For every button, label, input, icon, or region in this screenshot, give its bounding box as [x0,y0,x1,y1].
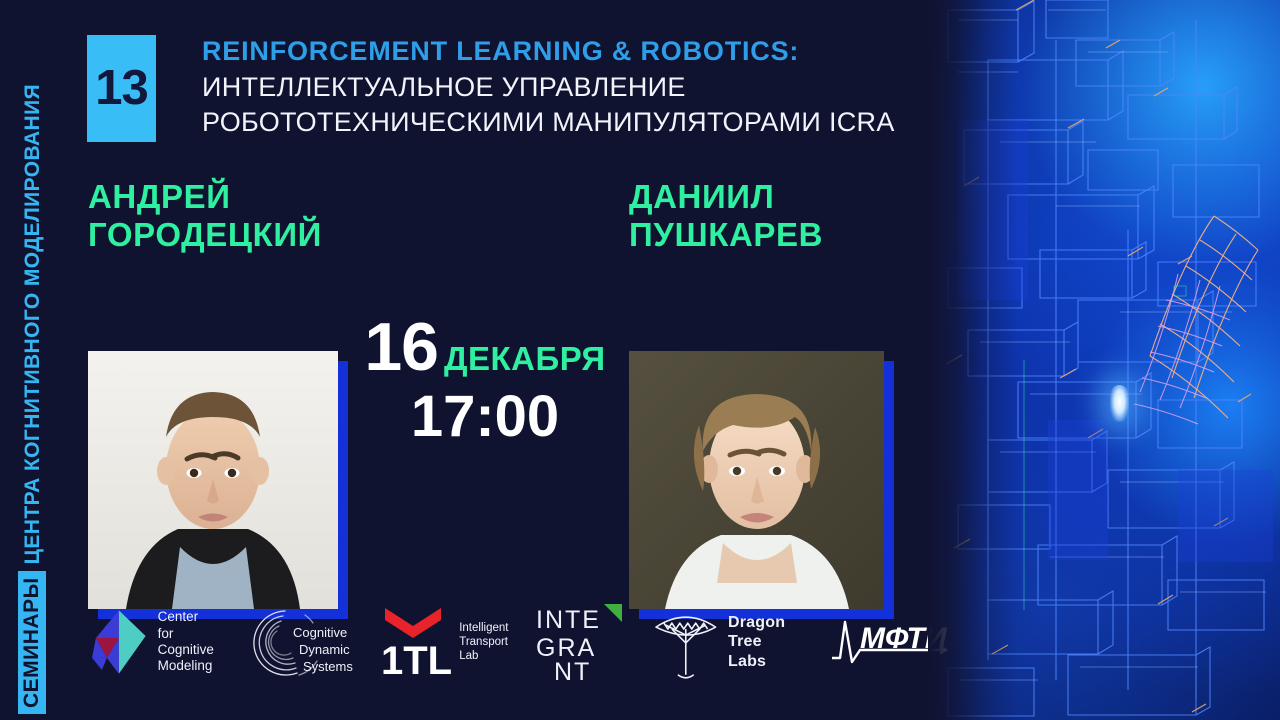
title-english: REINFORCEMENT LEARNING & ROBOTICS: [202,36,992,66]
speaker-photo-frame-1 [629,351,884,609]
event-time: 17:00 [360,388,610,446]
svg-text:МФТИ: МФТИ [860,622,948,655]
speaker-name-0: АНДРЕЙ ГОРОДЕЦКИЙ [88,178,338,253]
seminar-number-badge: 13 [87,35,156,142]
logo-dragon-tree-labs: Dragon Tree Labs [652,605,804,679]
svg-text:Systems: Systems [303,659,353,674]
speaker-card-1: ДАНИИЛ ПУШКАРЕВ [629,178,884,609]
cds-mark-icon: Cognitive Dynamic Systems [243,603,353,681]
svg-text:Cognitive: Cognitive [293,625,347,640]
event-day: 16 [364,315,438,380]
svg-text:Dynamic: Dynamic [299,642,350,657]
portrait-illustration-1 [629,351,884,609]
glow-highlight [1110,385,1129,422]
svg-text:INTE: INTE [536,606,601,634]
speaker-card-0: АНДРЕЙ ГОРОДЕЦКИЙ [88,178,338,609]
ccm-mark-icon [88,606,150,678]
seminar-poster: СЕМИНАРЫ ЦЕНТРА КОГНИТИВНОГО МОДЕЛИРОВАН… [0,0,1280,720]
integrant-mark-icon: INTE GRA NT [534,602,626,682]
seminar-number: 13 [95,64,148,113]
mfti-mark-icon: МФТИ [830,612,948,672]
logo-mfti: МФТИ [830,612,948,672]
event-month: ДЕКАБРЯ [444,340,606,378]
event-datetime: 16 ДЕКАБРЯ 17:00 [360,315,610,446]
logo-cognitive-dynamic-systems: Cognitive Dynamic Systems [243,603,353,681]
logo-itl-intelligent-transport-lab: 1TL Intelligent Transport Lab [379,604,508,680]
itl-mark-icon: 1TL [379,604,451,680]
logo-center-for-cognitive-modeling: Center for Cognitive Modeling [88,606,217,678]
logo-center-for-cognitive-modeling-text: Center for Cognitive Modeling [158,609,218,675]
partner-logo-row: Center for Cognitive Modeling Cognitive … [88,592,948,692]
title-block: REINFORCEMENT LEARNING & ROBOTICS: ИНТЕЛ… [202,36,992,140]
svg-text:1TL: 1TL [381,639,451,680]
logo-itl-text: Intelligent Transport Lab [459,621,508,663]
speaker-photo-frame-0 [88,351,338,609]
speaker-photo-1 [629,351,884,609]
logo-integrant: INTE GRA NT [534,602,626,682]
logo-dragon-tree-labs-text: Dragon Tree Labs [728,613,804,672]
title-russian-line2: РОБОТОТЕХНИЧЕСКИМИ МАНИПУЛЯТОРАМИ ICRA [202,105,992,140]
vertical-side-strip: СЕМИНАРЫ ЦЕНТРА КОГНИТИВНОГО МОДЕЛИРОВАН… [0,0,64,720]
speaker-name-1: ДАНИИЛ ПУШКАРЕВ [629,178,884,253]
speaker-photo-0 [88,351,338,609]
title-russian-line1: ИНТЕЛЛЕКТУАЛЬНОЕ УПРАВЛЕНИЕ [202,70,992,105]
dragon-tree-mark-icon [652,605,720,679]
side-strip-text: ЦЕНТРА КОГНИТИВНОГО МОДЕЛИРОВАНИЯ [22,84,43,564]
portrait-illustration-0 [88,351,338,609]
side-strip-badge: СЕМИНАРЫ [18,571,46,714]
svg-text:NT: NT [554,658,591,682]
